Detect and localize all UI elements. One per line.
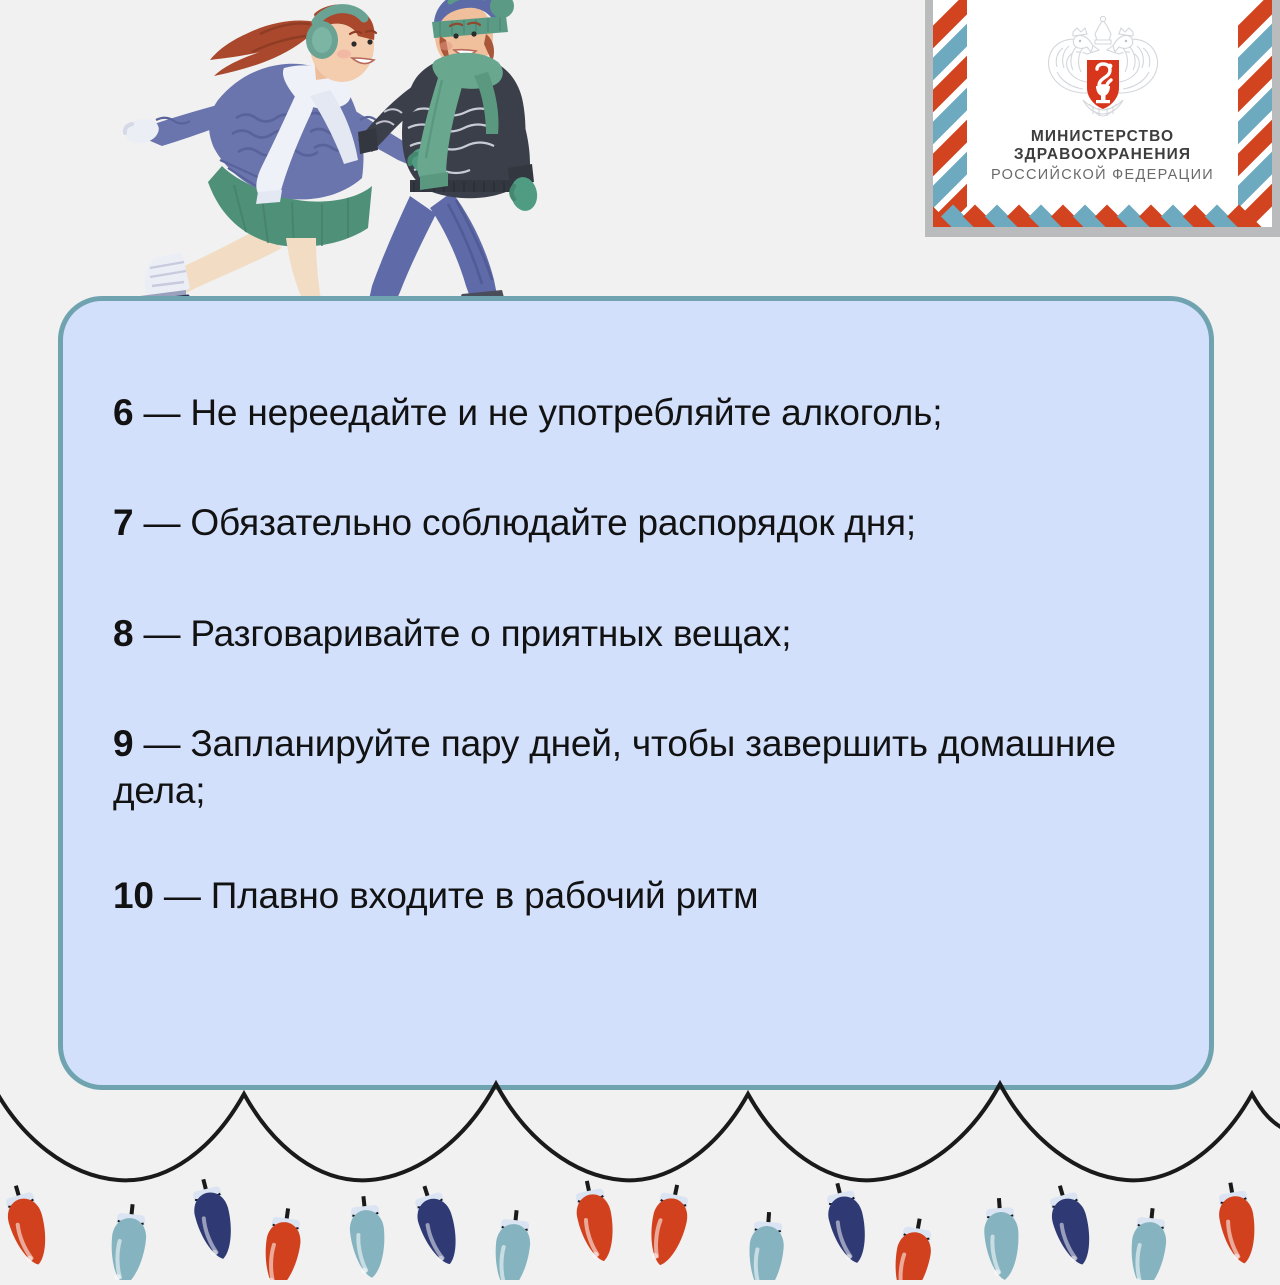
rule-number: 8: [113, 613, 133, 654]
list-item: 7 — Обязательно соблюдайте распорядок дн…: [113, 499, 1165, 546]
rules-panel: 6 — Не нереедайте и не употребляйте алко…: [58, 296, 1214, 1090]
list-item: 9 — Запланируйте пару дней, чтобы заверш…: [113, 720, 1165, 815]
envelope-stripes-bottom: [933, 193, 1272, 227]
list-item: 10 — Плавно входите в рабочий ритм: [113, 872, 1165, 919]
logo-line-2: ЗДРАВООХРАНЕНИЯ: [933, 146, 1272, 164]
logo-line-1: МИНИСТЕРСТВО: [933, 128, 1272, 146]
light-bulb: [570, 1177, 620, 1264]
rule-dash: —: [164, 875, 201, 916]
rule-dash: —: [143, 613, 180, 654]
light-bulb: [1127, 1206, 1169, 1280]
light-bulb: [982, 1197, 1022, 1280]
rule-number: 10: [113, 875, 154, 916]
logo-line-3: РОССИЙСКОЙ ФЕДЕРАЦИИ: [933, 167, 1272, 184]
rule-number: 9: [113, 723, 133, 764]
rule-text: Не нереедайте и не употребляйте алкоголь…: [190, 392, 942, 433]
light-bulb: [889, 1216, 937, 1280]
light-bulb: [187, 1175, 240, 1263]
rule-dash: —: [143, 392, 180, 433]
rule-text: Обязательно соблюдайте распорядок дня;: [190, 502, 916, 543]
light-bulb: [746, 1211, 786, 1280]
light-bulb: [1214, 1180, 1262, 1267]
list-item: 6 — Не нереедайте и не употребляйте алко…: [113, 389, 1165, 436]
rule-dash: —: [143, 723, 180, 764]
list-item: 8 — Разговаривайте о приятных вещах;: [113, 610, 1165, 657]
rule-number: 6: [113, 392, 133, 433]
light-bulb: [0, 1181, 55, 1269]
rule-dash: —: [143, 502, 180, 543]
light-bulb: [491, 1208, 533, 1280]
light-bulb: [260, 1206, 305, 1280]
rule-text: Запланируйте пару дней, чтобы завершить …: [113, 723, 1116, 811]
rules-list: 6 — Не нереедайте и не употребляйте алко…: [113, 389, 1165, 919]
light-bulb: [643, 1181, 693, 1268]
christmas-string-lights: [0, 1080, 1280, 1280]
poster-canvas: МИНИСТЕРСТВО ЗДРАВООХРАНЕНИЯ РОССИЙСКОЙ …: [0, 0, 1280, 1280]
double-headed-eagle-icon: [1037, 16, 1169, 122]
light-bulb: [107, 1202, 149, 1280]
rule-number: 7: [113, 502, 133, 543]
light-bulb: [1044, 1181, 1099, 1269]
logo-envelope-inner: МИНИСТЕРСТВО ЗДРАВООХРАНЕНИЯ РОССИЙСКОЙ …: [933, 0, 1272, 227]
ministry-logo: МИНИСТЕРСТВО ЗДРАВООХРАНЕНИЯ РОССИЙСКОЙ …: [925, 0, 1280, 237]
light-bulb: [346, 1194, 388, 1279]
ministry-logo-text: МИНИСТЕРСТВО ЗДРАВООХРАНЕНИЯ РОССИЙСКОЙ …: [933, 128, 1272, 184]
string-lights-svg: [0, 1080, 1280, 1280]
rule-text: Разговаривайте о приятных вещах;: [190, 613, 791, 654]
light-bulb: [408, 1181, 466, 1269]
rule-text: Плавно входите в рабочий ритм: [211, 875, 759, 916]
light-bulb: [821, 1179, 874, 1267]
